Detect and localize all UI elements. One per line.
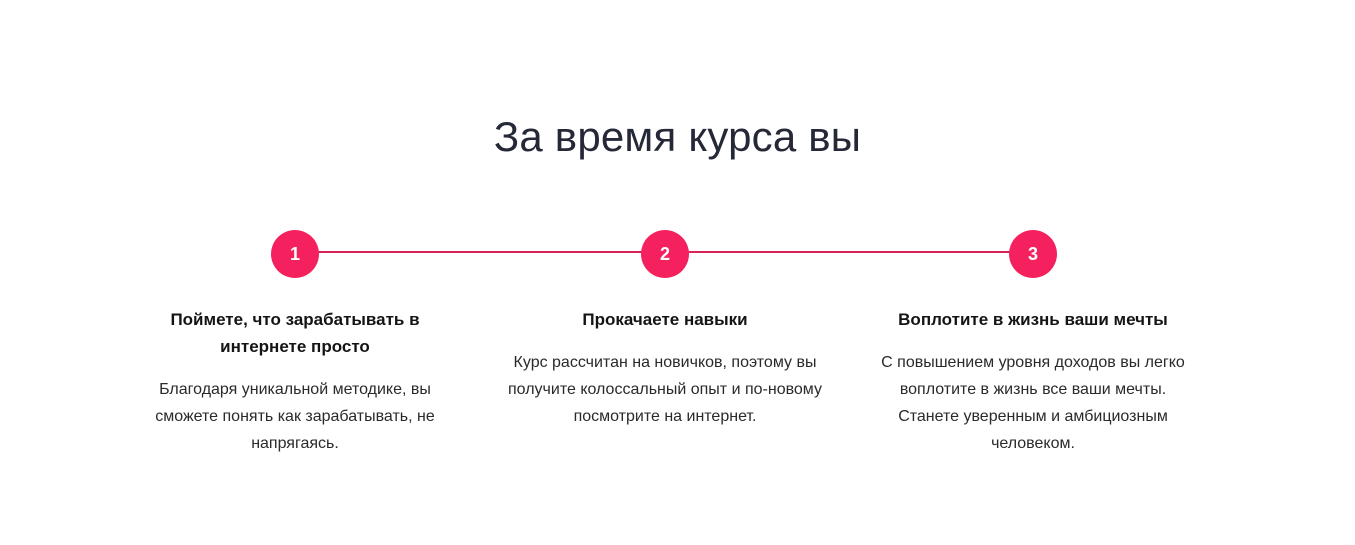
steps-timeline: 1 2 3 (0, 230, 1355, 280)
benefit-heading-3: Воплотите в жизнь ваши мечты (873, 306, 1193, 333)
step-number-1: 1 (290, 245, 300, 263)
section-title: За время курса вы (0, 109, 1355, 165)
benefit-body-1: Благодаря уникальной методике, вы сможет… (135, 376, 455, 457)
benefit-column-2: Прокачаете навыки Курс рассчитан на нови… (505, 306, 825, 430)
course-benefits-section: За время курса вы 1 2 3 Поймете, что зар… (0, 0, 1355, 545)
step-marker-1[interactable]: 1 (271, 230, 319, 278)
benefit-heading-2: Прокачаете навыки (505, 306, 825, 333)
benefit-body-2: Курс рассчитан на новичков, поэтому вы п… (505, 349, 825, 430)
benefit-body-3: С повышением уровня доходов вы легко воп… (873, 349, 1193, 457)
step-number-3: 3 (1028, 245, 1038, 263)
benefit-column-3: Воплотите в жизнь ваши мечты С повышение… (873, 306, 1193, 457)
step-marker-3[interactable]: 3 (1009, 230, 1057, 278)
benefit-columns: Поймете, что зарабатывать в интернете пр… (0, 306, 1355, 486)
benefit-column-1: Поймете, что зарабатывать в интернете пр… (135, 306, 455, 457)
step-marker-2[interactable]: 2 (641, 230, 689, 278)
step-number-2: 2 (660, 245, 670, 263)
benefit-heading-1: Поймете, что зарабатывать в интернете пр… (135, 306, 455, 360)
